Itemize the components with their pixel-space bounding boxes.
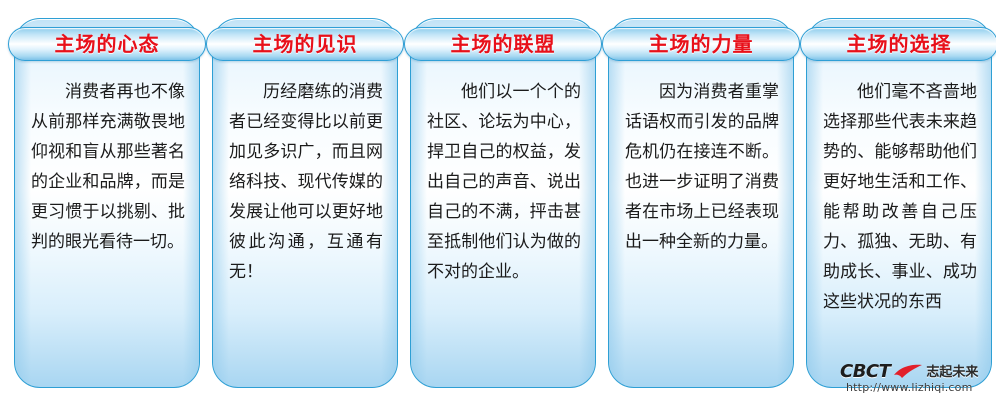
card-choice: 他们毫不吝啬地选择那些代表未来趋势的、能够帮助他们更好地生活和工作、能帮助改善自… — [800, 18, 996, 390]
card-body: 他们毫不吝啬地选择那些代表未来趋势的、能够帮助他们更好地生活和工作、能帮助改善自… — [806, 18, 992, 388]
card-title-text: 主场的心态 — [55, 34, 160, 54]
card-title-text: 主场的见识 — [253, 34, 358, 54]
card-insight: 历经磨练的消费者已经变得比以前更加见多识广，而且网络科技、现代传媒的发展让他可以… — [206, 18, 404, 390]
card-body-text: 历经磨练的消费者已经变得比以前更加见多识广，而且网络科技、现代传媒的发展让他可以… — [229, 77, 383, 287]
card-power: 因为消费者重掌话语权而引发的品牌危机仍在接连不断。也进一步证明了消费者在市场上已… — [602, 18, 800, 390]
card-title-banner: 主场的选择 — [800, 27, 996, 61]
card-title-banner: 主场的心态 — [8, 27, 206, 61]
card-body: 消费者再也不像从前那样充满敬畏地仰视和盲从那些著名的企业和品牌，而是更习惯于以挑… — [14, 18, 200, 388]
card-mindset: 消费者再也不像从前那样充满敬畏地仰视和盲从那些著名的企业和品牌，而是更习惯于以挑… — [8, 18, 206, 390]
card-body: 因为消费者重掌话语权而引发的品牌危机仍在接连不断。也进一步证明了消费者在市场上已… — [608, 18, 794, 388]
card-row: 消费者再也不像从前那样充满敬畏地仰视和盲从那些著名的企业和品牌，而是更习惯于以挑… — [0, 0, 996, 404]
card-body-text: 因为消费者重掌话语权而引发的品牌危机仍在接连不断。也进一步证明了消费者在市场上已… — [625, 77, 779, 257]
card-body: 历经磨练的消费者已经变得比以前更加见多识广，而且网络科技、现代传媒的发展让他可以… — [212, 18, 398, 388]
card-title-text: 主场的选择 — [847, 34, 952, 54]
card-alliance: 他们以一个个的社区、论坛为中心，捍卫自己的权益，发出自己的声音、说出自己的不满，… — [404, 18, 602, 390]
card-title-text: 主场的联盟 — [451, 34, 556, 54]
card-title-banner: 主场的见识 — [206, 27, 404, 61]
card-title-banner: 主场的力量 — [602, 27, 800, 61]
infographic-board: 消费者再也不像从前那样充满敬畏地仰视和盲从那些著名的企业和品牌，而是更习惯于以挑… — [0, 0, 996, 404]
card-body-text: 他们以一个个的社区、论坛为中心，捍卫自己的权益，发出自己的声音、说出自己的不满，… — [427, 77, 581, 287]
card-body-text: 消费者再也不像从前那样充满敬畏地仰视和盲从那些著名的企业和品牌，而是更习惯于以挑… — [31, 77, 185, 257]
card-body: 他们以一个个的社区、论坛为中心，捍卫自己的权益，发出自己的声音、说出自己的不满，… — [410, 18, 596, 388]
card-title-banner: 主场的联盟 — [404, 27, 602, 61]
card-title-text: 主场的力量 — [649, 34, 754, 54]
card-body-text: 他们毫不吝啬地选择那些代表未来趋势的、能够帮助他们更好地生活和工作、能帮助改善自… — [823, 77, 977, 317]
